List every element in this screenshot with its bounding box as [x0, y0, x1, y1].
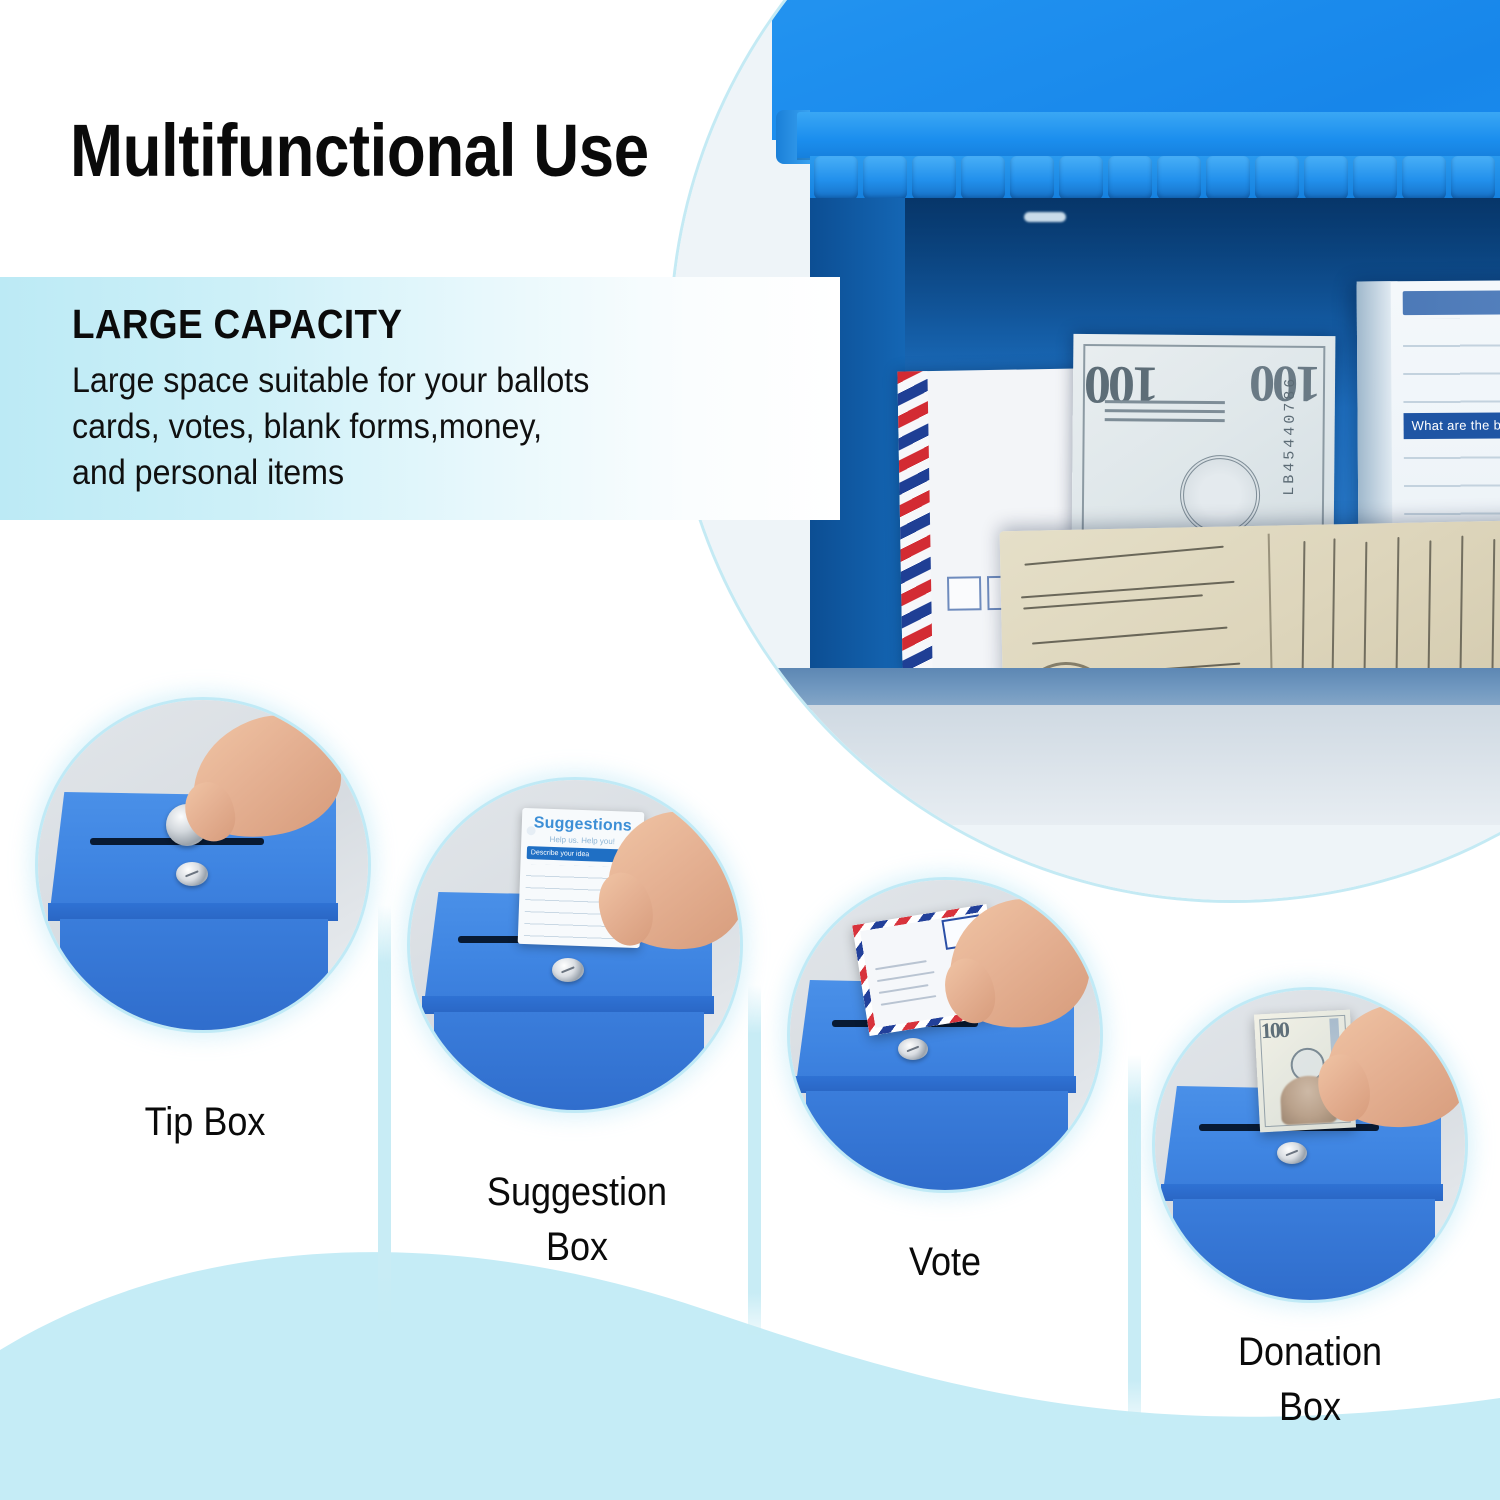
banknote-federal-seal — [1180, 455, 1261, 536]
lid-highlight-glint — [1024, 212, 1066, 222]
postcard-script-line — [1023, 594, 1203, 609]
column-separator-3 — [1128, 1055, 1141, 1425]
capacity-body-line-2: cards, votes, blank forms,money, — [72, 404, 716, 450]
donationbox-lock — [1277, 1142, 1307, 1164]
capacity-body-line-1: Large space suitable for your ballots — [72, 358, 716, 404]
envelope-postcode-box-1 — [947, 576, 982, 611]
suggestionbox-lock — [552, 958, 584, 982]
airmail-stripe-border — [897, 371, 932, 671]
banknote-denomination-left: 100 — [1087, 354, 1160, 417]
votebox-lock — [898, 1038, 928, 1060]
label-text-line-1: Donation — [1166, 1325, 1454, 1380]
column-separator-1 — [378, 905, 391, 1320]
column-separator-2 — [748, 985, 761, 1335]
page-title: Multifunctional Use — [70, 108, 649, 193]
label-text-line-1: Suggestion — [429, 1165, 726, 1220]
form-pad-title-bar — [1403, 289, 1500, 316]
suggestionbox-body — [434, 1012, 704, 1110]
use-case-label-vote: Vote — [806, 1235, 1085, 1290]
postcard-script-line — [1032, 627, 1228, 645]
banknote-serial-number: LB45440786 — [1281, 376, 1299, 496]
capacity-body-text: Large space suitable for your ballots ca… — [72, 358, 716, 496]
capacity-heading: LARGE CAPACITY — [72, 301, 402, 348]
box-hinge — [810, 156, 1500, 200]
use-case-thumb-vote — [790, 880, 1100, 1190]
use-case-label-suggestion-box: Suggestion Box — [429, 1165, 726, 1275]
form-pad-field-label: What are the benefits of your idea: — [1404, 411, 1500, 440]
capacity-body-line-3: and personal items — [72, 450, 716, 496]
donationbox-body — [1173, 1199, 1435, 1300]
use-case-thumb-tip-box — [38, 700, 368, 1030]
postcard-script-line — [1024, 546, 1223, 566]
tipbox-lock — [176, 862, 208, 886]
use-case-label-tip-box: Tip Box — [57, 1095, 354, 1150]
label-text: Tip Box — [145, 1100, 266, 1144]
label-text-line-2: Box — [1166, 1380, 1454, 1435]
use-case-thumb-donation-box: 100 — [1155, 990, 1465, 1300]
label-text-line-2: Box — [429, 1220, 726, 1275]
infographic-canvas: Multifunctional Use LARGE CAPACITY Large… — [0, 0, 1500, 1500]
box-front-rim — [772, 668, 1500, 710]
suggestion-card-title: Suggestions — [522, 814, 645, 836]
tipbox-body — [60, 919, 328, 1030]
banknote-denomination: 100 — [1260, 1017, 1288, 1044]
box-lid-lip — [797, 112, 1500, 158]
label-text: Vote — [909, 1240, 981, 1284]
votebox-body — [806, 1091, 1068, 1190]
use-case-label-donation-box: Donation Box — [1166, 1325, 1454, 1435]
box-front-panel — [772, 705, 1500, 825]
